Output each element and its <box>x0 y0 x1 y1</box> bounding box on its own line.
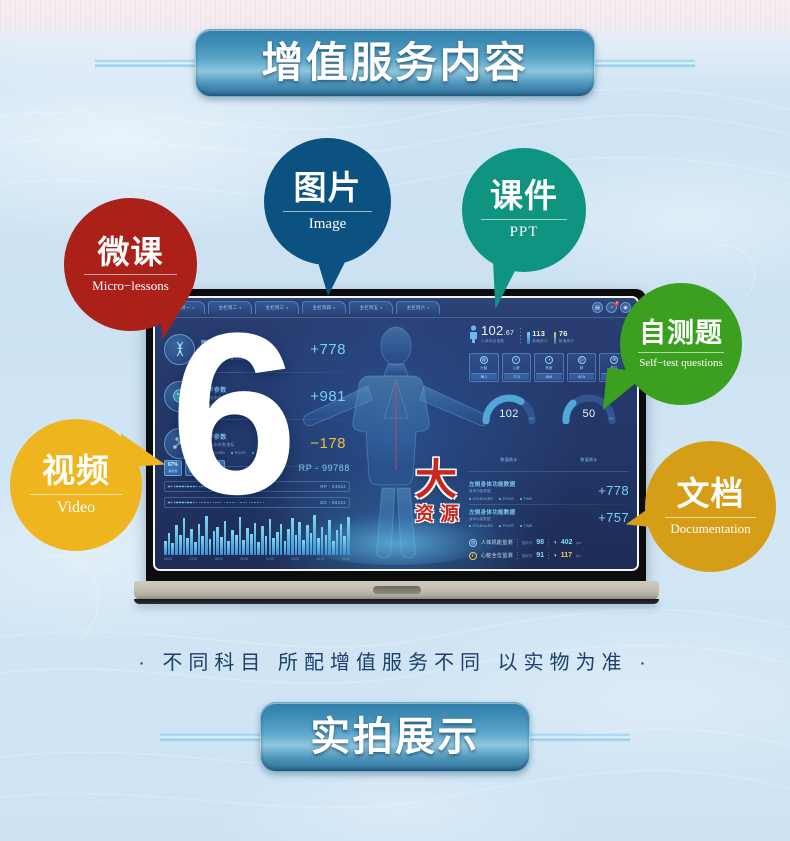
row-tag: TIME <box>520 524 533 528</box>
row-title: 左侧身体功能数据 <box>469 508 593 516</box>
body-function-rows: 左侧身体功能数据 身体功能数据 STANDARD POOR TIME +778 <box>469 471 629 531</box>
card-value: 62.9 <box>569 373 595 380</box>
divider <box>638 352 723 353</box>
card-label: 心脏 <box>504 366 530 371</box>
big-label-da: 大 <box>415 459 457 501</box>
divider <box>30 494 122 495</box>
bar-axis-tick: 06:00 <box>215 557 223 561</box>
nav-tab-label: 主栏目六 <box>407 305 426 311</box>
bar <box>227 541 230 555</box>
nav-tab[interactable]: 主栏目五 ▾ <box>349 301 393 314</box>
gauge-min: 0 <box>564 417 566 421</box>
row-subtitle: 身体功能数据 <box>469 517 593 522</box>
row-value: +757 <box>598 510 629 525</box>
divider <box>517 552 518 559</box>
kpi-int: 102 <box>481 323 504 338</box>
card-glyph: ◐ <box>515 357 518 363</box>
bar <box>332 541 335 555</box>
bubble-self-test[interactable]: 自测题 Self−test questions <box>620 283 742 405</box>
monitor-value-1: 91 <box>536 552 544 559</box>
bar <box>164 541 167 555</box>
bubble-title-en: Documentation <box>664 522 756 536</box>
notification-badge: 9 <box>615 301 619 306</box>
divider <box>517 539 518 546</box>
big-number-overlay: 6 <box>170 324 292 503</box>
metric-value: +778 <box>310 341 346 358</box>
mini-kpi-value: 76 <box>559 330 575 338</box>
organ-card-row: ◍ 大脑 98.1 ◐ 心脏 77.0 ◑ 肾脏 <box>469 353 629 383</box>
mini-kpi-caption: 数值统计 <box>532 339 548 344</box>
bar-chart-axis: 00:0003:0006:0009:0012:0015:0018:0021:00 <box>164 557 350 561</box>
row-subtitle: 身体功能数据 <box>469 489 593 494</box>
divider <box>283 211 372 212</box>
moon-icon: ◑ <box>553 540 557 546</box>
brain-icon: ◍ <box>480 356 488 364</box>
bar-axis-tick: 21:00 <box>342 557 350 561</box>
bell-icon[interactable]: ◔ 9 <box>606 302 617 313</box>
row-tag: STANDARD <box>469 497 493 501</box>
organ-card[interactable]: ◎ 肺 62.9 <box>567 353 597 383</box>
card-value: 98.1 <box>471 373 497 380</box>
monitor-value-2: 402 <box>561 539 573 546</box>
bar <box>171 543 174 555</box>
bar-axis-tick: 18:00 <box>317 557 325 561</box>
monitor-icon[interactable]: ▤ <box>592 302 603 313</box>
chevron-down-icon: ▾ <box>427 306 429 310</box>
body-function-row[interactable]: 左侧身体功能数据 身体功能数据 STANDARD POOR TIME +757 <box>469 505 629 532</box>
nav-tab-label: 主栏目四 <box>313 305 332 311</box>
monitor-name: 心脏全位监测 <box>481 552 513 559</box>
kpi-caption: 人体综合指数 <box>481 339 514 344</box>
card-glyph: ◎ <box>579 357 583 363</box>
divider <box>548 552 549 559</box>
monitor-unit: pm <box>576 541 580 545</box>
bubble-video[interactable]: 视频 Video <box>10 419 142 551</box>
row-tag: STANDARD <box>469 524 493 528</box>
bar <box>313 515 316 555</box>
bar <box>347 517 350 555</box>
chevron-down-icon: ▾ <box>380 306 382 310</box>
card-label: 肺 <box>569 366 595 371</box>
card-label: 大脑 <box>471 366 497 371</box>
bar <box>194 542 197 555</box>
monitor-unit-label: 指标/天 <box>522 553 532 558</box>
organ-card[interactable]: ◍ 大脑 98.1 <box>469 353 499 383</box>
card-value: 77.0 <box>504 373 530 380</box>
mini-kpi-value: 113 <box>532 330 548 338</box>
page-title-banner: 增值服务内容 <box>195 29 595 97</box>
bar <box>306 525 309 555</box>
chevron-down-icon: ▾ <box>333 306 335 310</box>
dot-row-label: BD - 89134 <box>320 500 346 505</box>
mini-kpi-caption: 数值统计 <box>559 339 575 344</box>
bubble-title-cn: 文档 <box>677 477 745 512</box>
row-tags: STANDARD POOR TIME <box>469 497 593 501</box>
metric-value: +981 <box>310 388 346 405</box>
mini-kpi: 76 数值统计 <box>554 330 575 344</box>
gauge-max: 200 <box>529 417 534 421</box>
bar <box>328 520 331 555</box>
bubble-title-cn: 图片 <box>294 171 362 206</box>
bubble-title-cn: 课件 <box>490 179 558 214</box>
card-label: 肾脏 <box>536 366 562 371</box>
gauge-min: 0 <box>484 417 486 421</box>
moon-icon: ◑ <box>553 553 557 559</box>
monitor-row[interactable]: ◐ 心脏全位监测 指标/天 91 ◑ 117 pm <box>469 549 629 562</box>
bubble-ppt[interactable]: 课件 PPT <box>462 148 586 272</box>
bar-indicator <box>554 332 557 344</box>
body-function-row[interactable]: 左侧身体功能数据 身体功能数据 STANDARD POOR TIME +778 <box>469 477 629 504</box>
card-value: 45.6 <box>536 373 562 380</box>
row-tags: STANDARD POOR TIME <box>469 524 593 528</box>
bubble-title-cn: 自测题 <box>639 319 723 347</box>
gauge: 102 0 200 数值统计 <box>480 392 538 463</box>
bubble-title-en: Self−test questions <box>633 357 729 369</box>
section-title-banner: 实拍展示 <box>260 702 530 772</box>
spine-icon: ⊜ <box>610 356 618 364</box>
monitor-unit-label: 指标/天 <box>522 540 532 545</box>
metric-value: −178 <box>310 435 346 452</box>
row-value: +778 <box>598 483 629 498</box>
bar <box>325 535 328 555</box>
bar <box>343 536 346 555</box>
gauge-caption: 数值统计 <box>560 457 618 463</box>
bar <box>321 527 324 555</box>
big-label-ziyuan: 资源 <box>415 505 465 524</box>
disclaimer-note: · 不同科目 所配增值服务不同 以实物为准 · <box>0 646 790 675</box>
bubble-documentation[interactable]: 文档 Documentation <box>645 441 776 572</box>
activity-icon: ◍ <box>469 539 477 547</box>
person-icon <box>469 325 478 343</box>
bubble-title-en: Image <box>303 216 352 233</box>
bubble-title-en: Video <box>51 499 101 517</box>
divider <box>520 328 521 344</box>
bar <box>302 540 305 555</box>
divider <box>84 274 177 275</box>
body-index-kpi: 102.67 人体综合指数 <box>469 324 514 344</box>
bar-axis-tick: 09:00 <box>240 557 248 561</box>
nav-tab[interactable]: 主栏目四 ▾ <box>302 301 346 314</box>
monitor-unit: pm <box>576 554 580 558</box>
bar <box>336 530 339 555</box>
mini-kpi: 113 数值统计 <box>527 330 548 344</box>
bubble-image[interactable]: 图片 Image <box>264 138 391 265</box>
user-glyph: ◉ <box>623 305 628 311</box>
nav-tab-label: 主栏目五 <box>360 305 379 311</box>
bubble-title-en: Micro−lessons <box>86 279 175 293</box>
poster-canvas: 增值服务内容 <box>0 0 790 841</box>
monitor-value-2: 117 <box>561 552 572 559</box>
bubble-title-cn: 视频 <box>42 454 110 489</box>
row-tag: TIME <box>520 497 533 501</box>
bar <box>310 533 313 555</box>
bar <box>298 522 301 555</box>
divider <box>548 539 549 546</box>
top-banner-group: 增值服务内容 <box>95 24 695 102</box>
body-index-value: 102.67 <box>481 324 514 337</box>
monitor-value-1: 98 <box>536 539 544 546</box>
heart-monitor-icon: ◐ <box>469 552 477 560</box>
laptop-notch <box>373 586 421 594</box>
card-glyph: ◑ <box>547 357 550 363</box>
card-glyph: ⊜ <box>612 357 616 363</box>
row-body: 左侧身体功能数据 身体功能数据 STANDARD POOR TIME <box>469 480 593 501</box>
dot-row-label: RP - 63044 <box>320 484 346 489</box>
monitor-row[interactable]: ◍ 人体机能监测 指标/天 98 ◑ 402 pm <box>469 536 629 549</box>
monitor-glyph: ▤ <box>595 305 600 311</box>
bar-axis-tick: 15:00 <box>291 557 299 561</box>
gauge-max: 200 <box>609 417 614 421</box>
bar <box>317 538 320 555</box>
row-tag: POOR <box>499 524 514 528</box>
kpi-dec: .67 <box>504 330 515 337</box>
bubble-micro-lessons[interactable]: 微课 Micro−lessons <box>64 198 197 331</box>
section-title: 实拍展示 <box>310 717 480 757</box>
kpi-row: 102.67 人体综合指数 113 数值统计 <box>469 324 629 344</box>
nav-tab[interactable]: 主栏目六 ▾ <box>396 301 440 314</box>
bar-axis-tick: 03:00 <box>189 557 197 561</box>
heart-icon: ◐ <box>512 356 520 364</box>
rp-main-value: RP - 99788 <box>299 463 350 473</box>
organ-card[interactable]: ◐ 心脏 77.0 <box>502 353 532 383</box>
row-body: 左侧身体功能数据 身体功能数据 STANDARD POOR TIME <box>469 508 593 529</box>
divider <box>665 517 757 518</box>
page-title: 增值服务内容 <box>261 42 528 84</box>
bell-glyph: ◔ <box>610 305 613 311</box>
row-title: 左侧身体功能数据 <box>469 480 593 488</box>
laptop-base <box>134 581 659 600</box>
bar-indicator <box>527 332 530 344</box>
gauge-caption: 数值统计 <box>480 457 538 463</box>
row-tag: POOR <box>499 497 514 501</box>
bubble-title-cn: 微课 <box>97 236 163 270</box>
card-glyph: ◍ <box>482 357 486 363</box>
bar <box>284 541 287 555</box>
monitor-name: 人体机能监测 <box>481 539 513 546</box>
monitor-rows: ◍ 人体机能监测 指标/天 98 ◑ 402 pm <box>469 536 629 562</box>
bottom-banner-group: 实拍展示 <box>160 694 630 780</box>
bar-axis-tick: 12:00 <box>266 557 274 561</box>
bar-axis-tick: 00:00 <box>164 557 172 561</box>
lung-icon: ◎ <box>578 356 586 364</box>
bar <box>257 542 260 555</box>
bar <box>340 524 343 555</box>
right-panel: 102.67 人体综合指数 113 数值统计 <box>469 324 629 562</box>
kidney-icon: ◑ <box>545 356 553 364</box>
bar <box>295 535 298 555</box>
divider <box>481 219 568 220</box>
organ-card[interactable]: ◑ 肾脏 45.6 <box>534 353 564 383</box>
bubble-title-en: PPT <box>504 224 545 241</box>
